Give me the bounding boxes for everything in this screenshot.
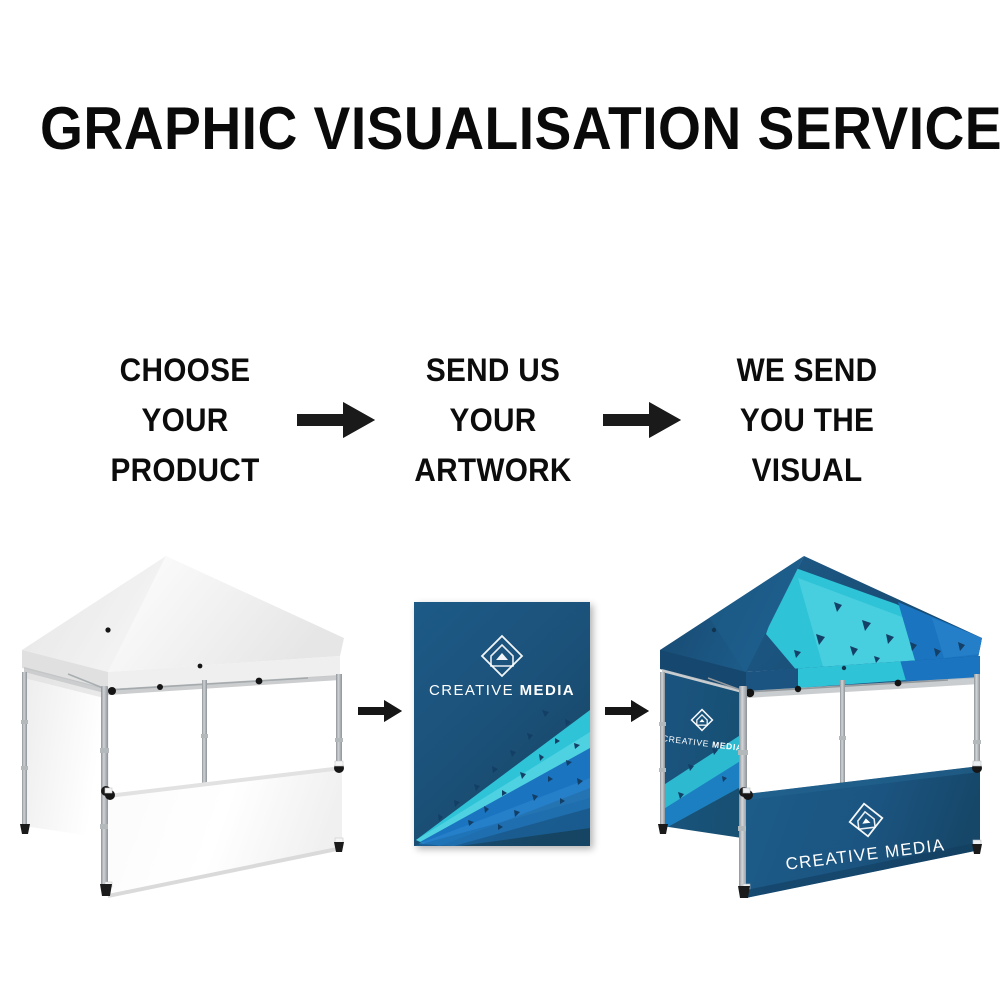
arrow-right-icon xyxy=(358,698,402,724)
product-image-blank-gazebo xyxy=(8,538,360,920)
step-line: YOUR xyxy=(400,395,586,445)
step-receive-visual: WE SEND YOU THE VISUAL xyxy=(714,345,900,495)
poster-canvas: GRAPHIC VISUALISATION SERVICE CHOOSE YOU… xyxy=(0,0,1000,1000)
step-line: YOUR xyxy=(92,395,278,445)
step-line: PRODUCT xyxy=(92,445,278,495)
arrow-right-icon xyxy=(603,398,681,442)
page-title: GRAPHIC VISUALISATION SERVICE xyxy=(40,98,960,160)
svg-text:CREATIVE MEDIA: CREATIVE MEDIA xyxy=(429,682,575,699)
step-choose-product: CHOOSE YOUR PRODUCT xyxy=(92,345,278,495)
step-line: WE SEND xyxy=(714,345,900,395)
arrow-right-icon xyxy=(605,698,649,724)
arrow-right-icon xyxy=(297,398,375,442)
step-line: VISUAL xyxy=(714,445,900,495)
product-image-branded-gazebo: CREATIVE MEDIA xyxy=(648,538,998,920)
step-send-artwork: SEND US YOUR ARTWORK xyxy=(400,345,586,495)
step-line: ARTWORK xyxy=(400,445,586,495)
artwork-file-preview: CREATIVE MEDIA xyxy=(414,602,590,846)
steps-row: CHOOSE YOUR PRODUCT SEND US YOUR ARTWORK… xyxy=(0,345,1000,490)
step-line: SEND US xyxy=(400,345,586,395)
step-line: CHOOSE xyxy=(92,345,278,395)
step-line: YOU THE xyxy=(714,395,900,445)
